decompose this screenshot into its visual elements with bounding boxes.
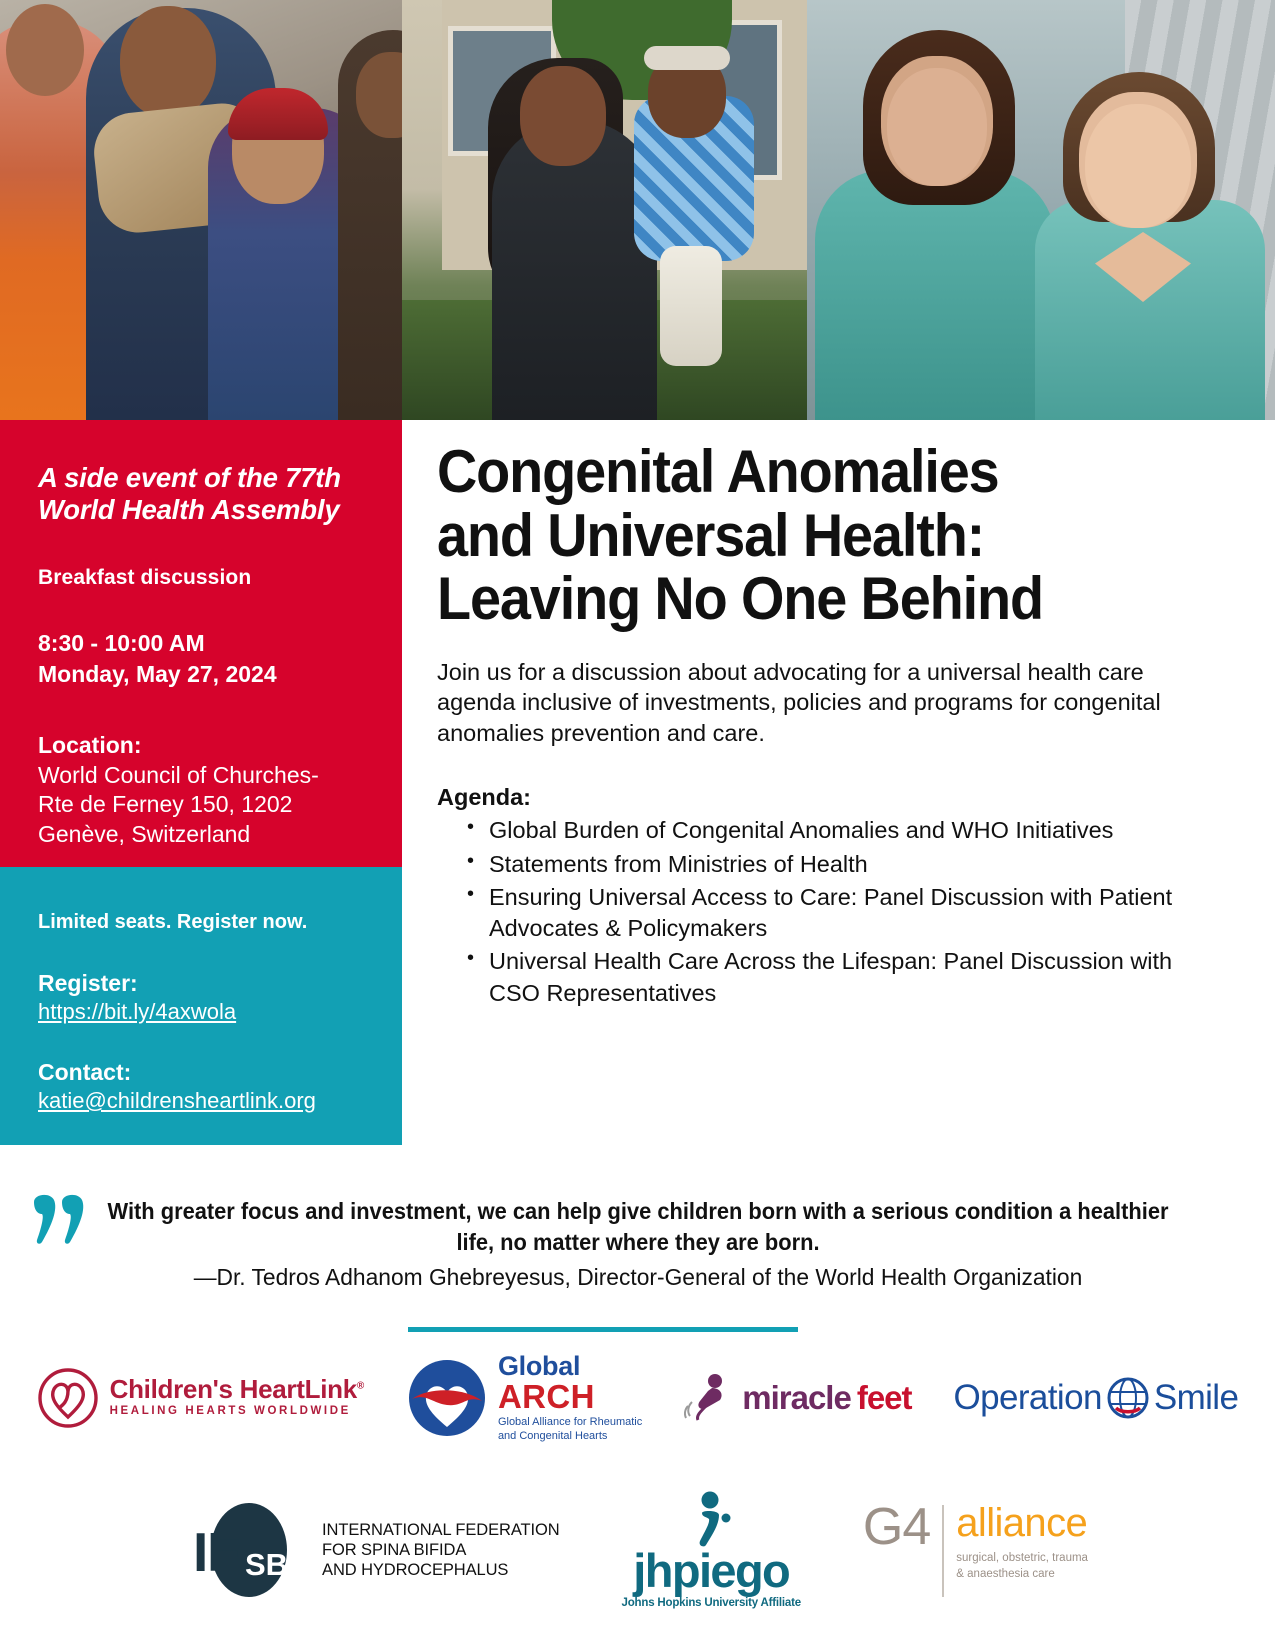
left-info-column: A side event of the 77th World Health As… [0, 420, 402, 1145]
location-line-1: World Council of Churches- [38, 762, 319, 788]
event-details-panel: A side event of the 77th World Health As… [0, 420, 402, 867]
childrens-heartlink-tagline: HEALING HEARTS WORLDWIDE [110, 1402, 364, 1420]
photo-family-with-child [0, 0, 402, 420]
location-address: World Council of Churches- Rte de Ferney… [38, 761, 368, 851]
logo-jhpiego: jhpiego Johns Hopkins University Affilia… [622, 1491, 801, 1609]
photo-mother-lifting-baby [402, 0, 807, 420]
agenda-item: Universal Health Care Across the Lifespa… [467, 946, 1185, 1009]
logo-childrens-heartlink: Children's HeartLink® HEALING HEARTS WOR… [37, 1367, 364, 1429]
g4-alliance-tagline: surgical, obstetric, trauma& anaesthesia… [956, 1551, 1088, 1582]
svg-text:I: I [193, 1521, 208, 1583]
global-arch-mark-icon [406, 1357, 488, 1439]
miraclefeet-footprint-icon [684, 1372, 736, 1424]
title-line-2: and Universal Health: [437, 502, 984, 569]
partner-logos-row-2: I F SBH INTERNATIONAL FEDERATION FOR SPI… [0, 1460, 1275, 1640]
register-label: Register: [38, 970, 368, 997]
intro-paragraph: Join us for a discussion about advocatin… [437, 657, 1185, 749]
quotation-mark-icon [30, 1192, 92, 1248]
childrens-heartlink-name: Children's HeartLink® [110, 1376, 364, 1402]
g4-divider [942, 1505, 944, 1597]
jhpiego-affiliate-text: Johns Hopkins University Affiliate [622, 1597, 801, 1609]
title-line-1: Congenital Anomalies [437, 438, 999, 505]
location-line-3: Genève, Switzerland [38, 821, 250, 847]
photo-band [0, 0, 1275, 420]
logo-g4-alliance: G4 alliance surgical, obstetric, trauma&… [863, 1503, 1088, 1597]
miraclefeet-part-1: miracle [742, 1379, 851, 1417]
event-kicker: A side event of the 77th World Health As… [38, 462, 368, 526]
global-arch-subtitle: Global Alliance for Rheumaticand Congeni… [498, 1416, 642, 1444]
miraclefeet-part-2: feet [857, 1379, 912, 1417]
event-date: Monday, May 27, 2024 [38, 661, 277, 687]
g4-wordmark: G4 [863, 1503, 930, 1552]
svg-text:F: F [207, 1521, 241, 1583]
g4-alliance-wordmark: alliance [956, 1503, 1088, 1543]
quote-section: With greater focus and investment, we ca… [0, 1196, 1275, 1293]
contact-email-link[interactable]: katie@childrensheartlink.org [38, 1088, 368, 1114]
poster-page: A side event of the 77th World Health As… [0, 0, 1275, 1650]
jhpiego-wordmark: jhpiego [633, 1547, 789, 1594]
agenda-list: Global Burden of Congenital Anomalies an… [437, 815, 1185, 1009]
quote-attribution: —Dr. Tedros Adhanom Ghebreyesus, Directo… [56, 1262, 1220, 1293]
registered-mark: ® [357, 1380, 364, 1391]
operation-smile-part-1: Operation [954, 1378, 1102, 1418]
event-time: 8:30 - 10:00 AM [38, 630, 205, 656]
logo-ifsbh: I F SBH INTERNATIONAL FEDERATION FOR SPI… [187, 1503, 559, 1598]
location-label: Location: [38, 732, 368, 759]
agenda-item: Ensuring Universal Access to Care: Panel… [467, 882, 1185, 945]
logo-operation-smile: Operation Smile [954, 1377, 1239, 1419]
globe-icon [1107, 1377, 1149, 1419]
jhpiego-figure-icon [686, 1491, 736, 1549]
limited-seats-notice: Limited seats. Register now. [38, 911, 368, 934]
operation-smile-part-2: Smile [1154, 1378, 1239, 1418]
register-link[interactable]: https://bit.ly/4axwola [38, 999, 368, 1025]
contact-label: Contact: [38, 1059, 368, 1086]
page-title: Congenital Anomalies and Universal Healt… [437, 440, 1133, 631]
global-arch-line-1: Global [498, 1353, 642, 1380]
global-arch-line-2: ARCH [498, 1380, 642, 1413]
main-content-column: Congenital Anomalies and Universal Healt… [437, 440, 1185, 1011]
title-line-3: Leaving No One Behind [437, 565, 1043, 632]
partner-logos-row-1: Children's HeartLink® HEALING HEARTS WOR… [0, 1342, 1275, 1454]
logo-global-arch: Global ARCH Global Alliance for Rheumati… [406, 1353, 642, 1444]
ifsbh-monogram-icon: I F SBH [187, 1503, 312, 1598]
logo-miraclefeet: miraclefeet [684, 1372, 911, 1424]
svg-text:SBH: SBH [245, 1547, 310, 1582]
agenda-label: Agenda: [437, 784, 1185, 811]
heart-circle-icon [37, 1367, 99, 1429]
quote-text: With greater focus and investment, we ca… [101, 1196, 1175, 1258]
photo-woman-and-girl [807, 0, 1275, 420]
ifsbh-wordmark: INTERNATIONAL FEDERATION FOR SPINA BIFID… [322, 1520, 559, 1580]
location-line-2: Rte de Ferney 150, 1202 [38, 791, 292, 817]
event-subhead: Breakfast discussion [38, 566, 368, 590]
section-divider [408, 1327, 798, 1332]
agenda-item: Statements from Ministries of Health [467, 849, 1185, 880]
agenda-item: Global Burden of Congenital Anomalies an… [467, 815, 1185, 846]
registration-panel: Limited seats. Register now. Register: h… [0, 867, 402, 1145]
event-time-date: 8:30 - 10:00 AM Monday, May 27, 2024 [38, 628, 368, 689]
